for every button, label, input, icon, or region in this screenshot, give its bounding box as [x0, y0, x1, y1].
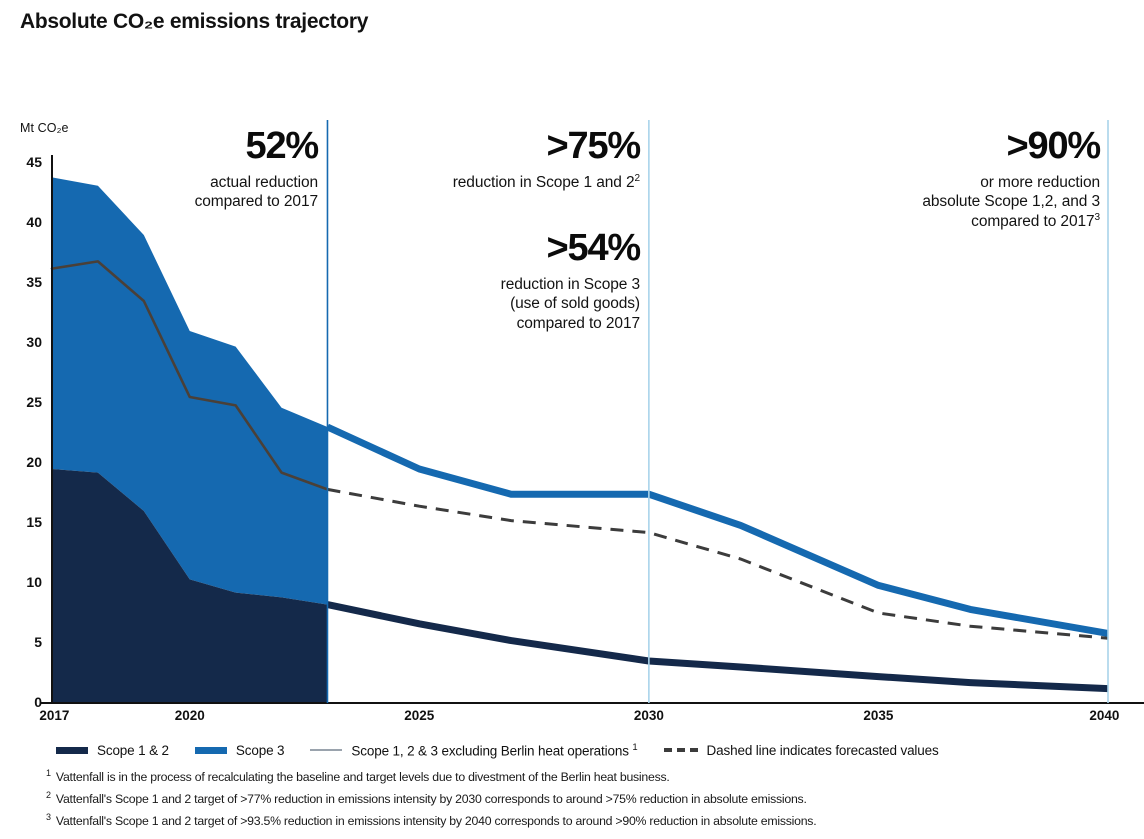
annotation-2030-scope3-headline: >54%	[330, 224, 640, 273]
annotation-2040-line-1: or more reduction	[770, 173, 1100, 193]
x-tick-2017: 2017	[39, 708, 69, 723]
y-tick-5: 5	[8, 634, 42, 650]
annotation-2023-line-2: compared to 2017	[100, 192, 318, 212]
y-tick-35: 35	[8, 274, 42, 290]
footnotes: 1 Vattenfall is in the process of recalc…	[46, 766, 816, 832]
legend-label-forecast: Dashed line indicates forecasted values	[707, 743, 939, 758]
footnote-1: 1 Vattenfall is in the process of recalc…	[46, 766, 816, 788]
annotation-2023: 52% actual reduction compared to 2017	[100, 122, 318, 212]
legend-swatch-forecast-icon	[664, 748, 698, 752]
y-tick-15: 15	[8, 514, 42, 530]
annotation-2030-scope12-line-1: reduction in Scope 1 and 22	[330, 173, 640, 193]
annotation-2023-headline: 52%	[100, 122, 318, 171]
footnote-text-2: Vattenfall's Scope 1 and 2 target of >77…	[53, 792, 807, 806]
annotation-2030-scope3-line-2: (use of sold goods)	[330, 294, 640, 314]
chart-container: Mt CO₂e 454035302520151050 2017202020252…	[0, 0, 1144, 760]
legend-label-scope12: Scope 1 & 2	[97, 743, 169, 758]
y-tick-45: 45	[8, 154, 42, 170]
annotation-2023-line-1: actual reduction	[100, 173, 318, 193]
legend-item-forecast: Dashed line indicates forecasted values	[664, 743, 939, 758]
legend-label-scope3: Scope 3	[236, 743, 285, 758]
history-areas	[52, 177, 327, 703]
annotation-2030-scope3-line-3: compared to 2017	[330, 314, 640, 334]
y-tick-25: 25	[8, 394, 42, 410]
legend-item-scope12: Scope 1 & 2	[56, 743, 169, 758]
footnote-3: 3 Vattenfall's Scope 1 and 2 target of >…	[46, 810, 816, 832]
chart-legend: Scope 1 & 2Scope 3Scope 1, 2 & 3 excludi…	[56, 742, 965, 759]
annotation-2030-scope3: >54% reduction in Scope 3 (use of sold g…	[330, 224, 640, 334]
legend-swatch-excluding-berlin-icon	[310, 749, 342, 751]
x-tick-2030: 2030	[634, 708, 664, 723]
y-tick-30: 30	[8, 334, 42, 350]
footnote-marker-1: 1	[46, 768, 51, 778]
legend-swatch-scope12-icon	[56, 747, 88, 754]
annotation-2030-scope12-headline: >75%	[330, 122, 640, 171]
footnote-text-1: Vattenfall is in the process of recalcul…	[53, 770, 670, 784]
y-tick-0: 0	[8, 694, 42, 710]
y-tick-40: 40	[8, 214, 42, 230]
x-tick-2035: 2035	[863, 708, 893, 723]
x-tick-2020: 2020	[175, 708, 205, 723]
legend-item-scope3: Scope 3	[195, 743, 285, 758]
annotation-2040: >90% or more reduction absolute Scope 1,…	[770, 122, 1100, 232]
annotation-2030-scope12: >75% reduction in Scope 1 and 22	[330, 122, 640, 193]
scope12-forecast-line	[327, 605, 1108, 689]
y-tick-20: 20	[8, 454, 42, 470]
footnote-marker-3: 3	[46, 812, 51, 822]
footnote-2: 2 Vattenfall's Scope 1 and 2 target of >…	[46, 788, 816, 810]
x-tick-2040: 2040	[1089, 708, 1119, 723]
x-tick-2025: 2025	[404, 708, 434, 723]
legend-label-excluding-berlin: Scope 1, 2 & 3 excluding Berlin heat ope…	[351, 742, 637, 759]
annotation-2040-headline: >90%	[770, 122, 1100, 171]
annotation-2030-scope3-line-1: reduction in Scope 3	[330, 275, 640, 295]
emissions-area-chart	[0, 0, 1144, 760]
footnote-marker-2: 2	[46, 790, 51, 800]
legend-item-excluding-berlin: Scope 1, 2 & 3 excluding Berlin heat ope…	[310, 742, 637, 759]
footnote-text-3: Vattenfall's Scope 1 and 2 target of >93…	[53, 814, 817, 828]
y-tick-10: 10	[8, 574, 42, 590]
annotation-2040-line-3: compared to 20173	[770, 212, 1100, 232]
annotation-2040-line-2: absolute Scope 1,2, and 3	[770, 192, 1100, 212]
scope3-total-forecast-line	[327, 427, 1108, 633]
legend-swatch-scope3-icon	[195, 747, 227, 754]
